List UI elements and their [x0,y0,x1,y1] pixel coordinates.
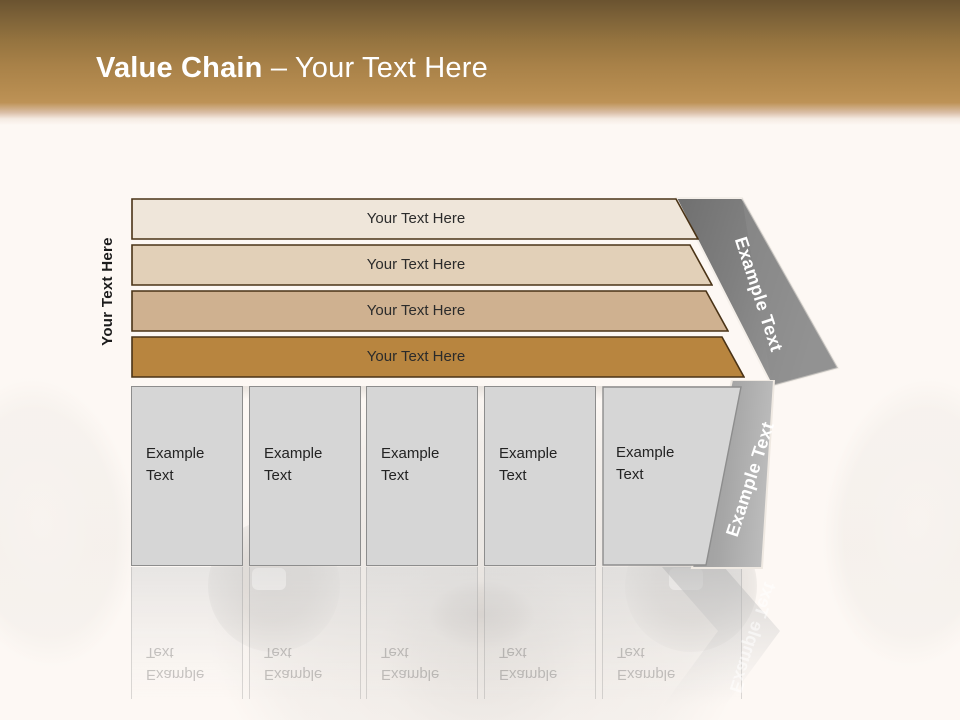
box-reflection: Example Text [484,567,596,699]
box-reflection: Example Text [131,567,243,699]
vertical-axis-label: Your Text Here [96,218,118,364]
process-box-line-1: Example [616,442,702,464]
chevron-reflection-shape [662,567,842,707]
box-reflection: Example Text [366,567,478,699]
process-box-label: Example Text [264,443,350,487]
reflection-line-2: Text [617,641,703,663]
reflection-line-2: Text [499,641,585,663]
funnel-bar-label: Your Text Here [131,336,701,378]
process-box-label: Example Text [616,442,702,486]
header-band: Value Chain – Your Text Here [0,0,960,125]
process-box[interactable]: Example Text [131,386,243,566]
funnel-bar-label: Your Text Here [131,198,701,240]
process-box-line-1: Example [381,443,467,465]
box-reflection: Example Text [602,567,742,699]
page-title-strong: Value Chain [96,52,263,84]
process-box-line-1: Example [264,443,350,465]
process-box-label: Example Text [499,443,585,487]
box-reflection-label: Example Text [499,641,585,685]
process-box-line-1: Example [146,443,232,465]
page-title: Value Chain – Your Text Here [96,54,488,83]
process-box-line-2: Text [381,465,467,487]
dog-muzzle-shape [355,545,610,720]
funnel-bar[interactable]: Your Text Here [131,336,745,378]
funnel-bar[interactable]: Your Text Here [131,290,729,332]
process-box[interactable]: Example Text [602,386,742,566]
box-reflection-label: Example Text [146,641,232,685]
box-reflection-label: Example Text [381,641,467,685]
process-box-line-2: Text [499,465,585,487]
funnel-bar[interactable]: Your Text Here [131,244,713,286]
reflection-line-2: Text [381,641,467,663]
funnel-bar-label: Your Text Here [131,244,701,286]
box-reflection: Example Text [249,567,361,699]
process-box[interactable]: Example Text [484,386,596,566]
reflection-line-1: Example [381,663,467,685]
page-title-rest: – Your Text Here [263,52,488,84]
chevron-reflection-label: Example Text [724,579,779,695]
chevron-reflection-text-wrap: Example Text [662,567,842,707]
funnel-bar[interactable]: Your Text Here [131,198,699,240]
reflection-line-1: Example [617,663,703,685]
process-box-label: Example Text [381,443,467,487]
process-box-line-2: Text [264,465,350,487]
process-box-line-2: Text [146,465,232,487]
chevron-reflection: Example Text [662,567,842,707]
process-box-line-2: Text [616,464,702,486]
reflection-line-2: Text [264,641,350,663]
dog-nose-shape [422,580,542,658]
funnel-bar-label: Your Text Here [131,290,701,332]
process-box-line-1: Example [499,443,585,465]
process-box[interactable]: Example Text [249,386,361,566]
vertical-axis-label-text: Your Text Here [99,237,116,346]
reflection-line-1: Example [499,663,585,685]
dog-eye-glint [669,568,703,590]
reflection-line-1: Example [146,663,232,685]
slide-canvas: Value Chain – Your Text Here Example Tex… [0,0,960,720]
process-box[interactable]: Example Text [366,386,478,566]
box-reflection-label: Example Text [617,641,703,685]
process-box-label: Example Text [146,443,232,487]
dog-eye-glint [252,568,286,590]
reflection-line-1: Example [264,663,350,685]
reflection-line-2: Text [146,641,232,663]
box-reflection-label: Example Text [264,641,350,685]
